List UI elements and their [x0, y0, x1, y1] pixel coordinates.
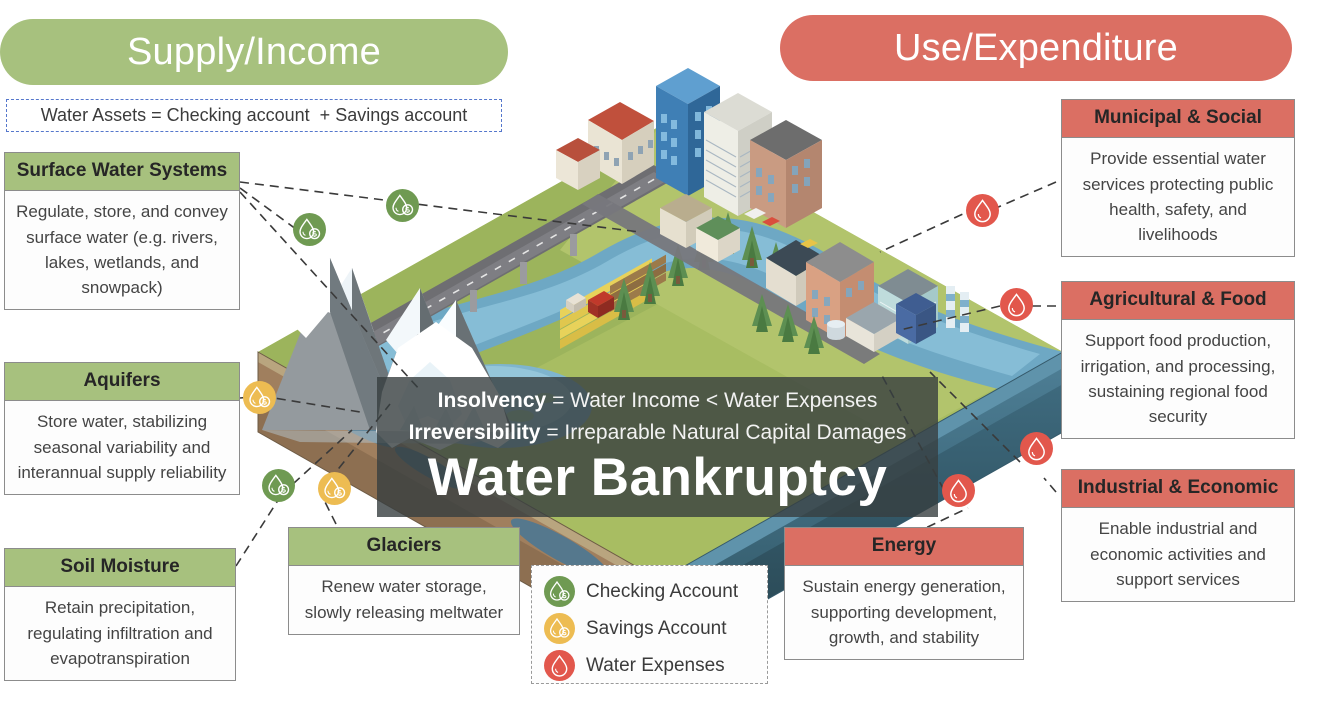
card-body: Regulate, store, and convey surface wate… — [5, 191, 239, 309]
card-body: Retain precipitation, regulating infiltr… — [5, 587, 235, 679]
red-roof-house — [556, 138, 600, 190]
legend-label: Savings Account — [586, 618, 726, 640]
card-body: Provide essential water services protect… — [1062, 138, 1294, 256]
card-municipal-and-social[interactable]: Municipal & Social Provide essential wat… — [1061, 99, 1295, 257]
droplet-dollar-icon — [544, 613, 575, 644]
legend-label: Water Expenses — [586, 655, 725, 677]
irreversibility-rest: = Irreparable Natural Capital Damages — [540, 421, 906, 444]
supply-income-header: Supply/Income — [0, 19, 508, 85]
teal-glass-building — [878, 269, 938, 344]
water-bankruptcy-banner: Insolvency = Water Income < Water Expens… — [377, 377, 938, 517]
card-title: Soil Moisture — [5, 549, 235, 587]
card-body: Renew water storage, slowly releasing me… — [289, 566, 519, 633]
card-title: Aquifers — [5, 363, 239, 401]
marker-expense-agricultural — [1000, 288, 1033, 321]
card-title: Industrial & Economic — [1062, 470, 1294, 508]
card-body: Store water, stabilizing seasonal variab… — [5, 401, 239, 493]
infographic-canvas: Supply/Income Use/Expenditure Water Asse… — [0, 0, 1338, 708]
marker-savings-aquifer — [243, 381, 276, 414]
legend-label: Checking Account — [586, 581, 738, 603]
forest — [614, 212, 862, 330]
card-title: Municipal & Social — [1062, 100, 1294, 138]
card-industrial-and-economic[interactable]: Industrial & Economic Enable industrial … — [1061, 469, 1295, 602]
marker-checking-surface-water — [386, 189, 419, 222]
marker-checking-river — [293, 213, 326, 246]
card-aquifers[interactable]: Aquifers Store water, stabilizing season… — [4, 362, 240, 495]
dark-roof-house — [766, 240, 826, 306]
vehicles — [744, 208, 818, 248]
irreversibility-term: Irreversibility — [409, 421, 541, 444]
insolvency-definition: Insolvency = Water Income < Water Expens… — [438, 385, 878, 417]
insolvency-rest: = Water Income < Water Expenses — [546, 389, 877, 412]
card-title: Glaciers — [289, 528, 519, 566]
droplet-icon — [544, 650, 575, 681]
card-title: Surface Water Systems — [5, 153, 239, 191]
marker-expense-municipal — [966, 194, 999, 227]
card-title: Energy — [785, 528, 1023, 566]
legend-item-expenses: Water Expenses — [544, 647, 767, 684]
white-skyscraper — [704, 93, 772, 216]
marker-expense-industrial — [1020, 432, 1053, 465]
card-soil-moisture[interactable]: Soil Moisture Retain precipitation, regu… — [4, 548, 236, 681]
card-body: Support food production, irrigation, and… — [1062, 320, 1294, 438]
card-glaciers[interactable]: Glaciers Renew water storage, slowly rel… — [288, 527, 520, 635]
card-body: Sustain energy generation, supporting de… — [785, 566, 1023, 658]
irreversibility-definition: Irreversibility = Irreparable Natural Ca… — [409, 417, 907, 449]
brick-midrise — [750, 120, 822, 228]
marker-checking-soil-moisture — [262, 469, 295, 502]
legend-item-checking: Checking Account — [544, 573, 767, 610]
legend: Checking Account Savings Account Water — [531, 565, 768, 684]
banner-title: Water Bankruptcy — [428, 450, 888, 506]
city-and-forest — [556, 68, 969, 364]
card-surface-water-systems[interactable]: Surface Water Systems Regulate, store, a… — [4, 152, 240, 310]
classical-building — [588, 102, 654, 184]
card-title: Agricultural & Food — [1062, 282, 1294, 320]
insolvency-term: Insolvency — [438, 389, 547, 412]
droplet-dollar-icon — [544, 576, 575, 607]
legend-item-savings: Savings Account — [544, 610, 767, 647]
blue-tower — [656, 68, 720, 196]
shop-row — [660, 194, 740, 262]
card-agricultural-and-food[interactable]: Agricultural & Food Support food product… — [1061, 281, 1295, 439]
use-expenditure-header: Use/Expenditure — [780, 15, 1292, 81]
water-assets-formula: Water Assets = Checking account + Saving… — [6, 99, 502, 132]
orange-office — [806, 242, 874, 340]
industrial-plant — [827, 286, 969, 352]
card-energy[interactable]: Energy Sustain energy generation, suppor… — [784, 527, 1024, 660]
card-body: Enable industrial and economic activitie… — [1062, 508, 1294, 600]
marker-expense-energy — [942, 474, 975, 507]
marker-savings-glaciers — [318, 472, 351, 505]
